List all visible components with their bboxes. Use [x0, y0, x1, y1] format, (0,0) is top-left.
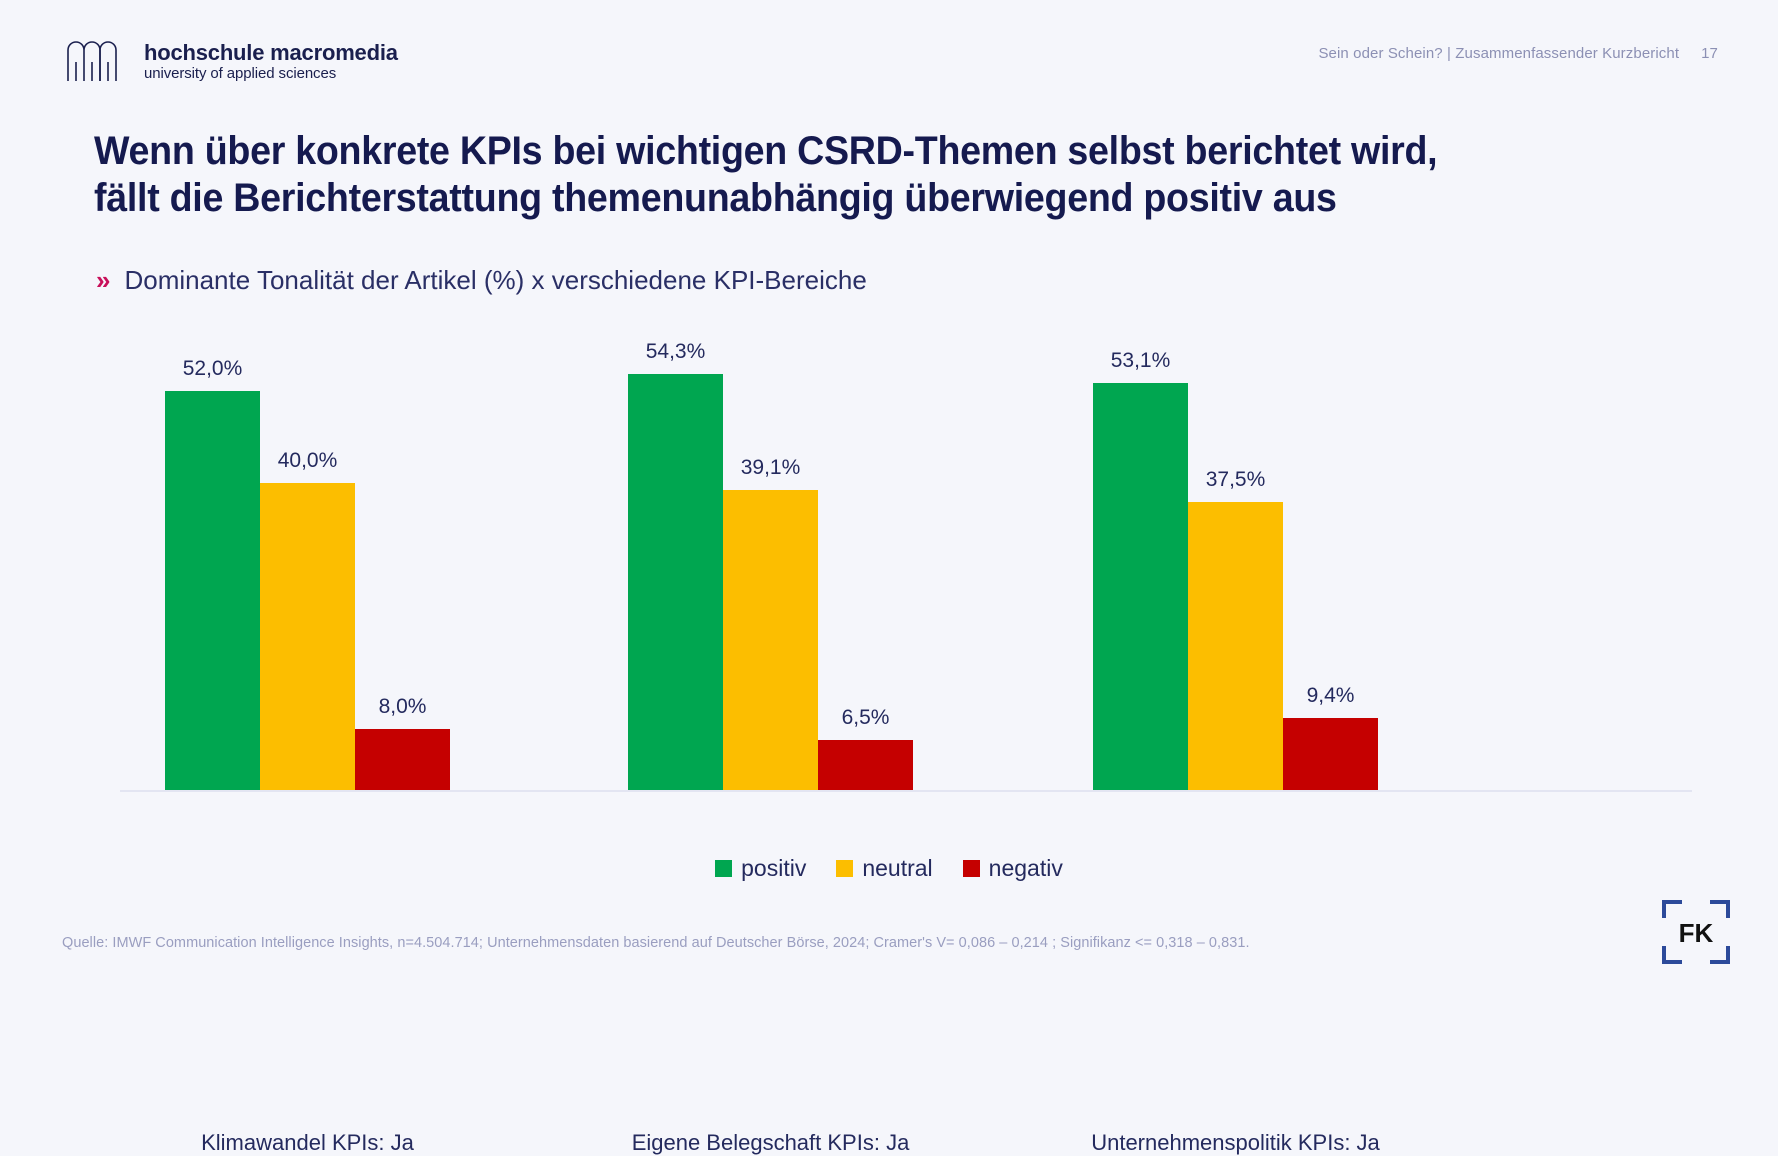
- bar-chart: 52,0%40,0%8,0%Klimawandel KPIs: Ja54,3%3…: [0, 330, 1778, 830]
- category-label: Klimawandel KPIs: Ja: [65, 1130, 550, 1156]
- bar-positiv[interactable]: [1093, 383, 1188, 790]
- bar-column[interactable]: 54,3%: [628, 330, 723, 790]
- legend-item-negativ[interactable]: negativ: [963, 855, 1063, 882]
- bar-column[interactable]: 6,5%: [818, 330, 913, 790]
- bar-group: 54,3%39,1%6,5%: [628, 330, 913, 790]
- chart-legend: positivneutralnegativ: [0, 855, 1778, 882]
- bar-column[interactable]: 53,1%: [1093, 330, 1188, 790]
- page-title: Wenn über konkrete KPIs bei wichtigen CS…: [94, 128, 1598, 222]
- bar-value-label: 37,5%: [1188, 468, 1283, 492]
- bar-column[interactable]: 52,0%: [165, 330, 260, 790]
- legend-swatch-icon: [715, 860, 732, 877]
- category-label: Unternehmenspolitik KPIs: Ja: [993, 1130, 1478, 1156]
- bar-group: 52,0%40,0%8,0%: [165, 330, 450, 790]
- legend-label: negativ: [989, 855, 1063, 882]
- bar-column[interactable]: 40,0%: [260, 330, 355, 790]
- legend-label: neutral: [862, 855, 932, 882]
- bar-column[interactable]: 9,4%: [1283, 330, 1378, 790]
- bar-negativ[interactable]: [1283, 718, 1378, 790]
- chart-plot-area: 52,0%40,0%8,0%Klimawandel KPIs: Ja54,3%3…: [120, 330, 1680, 790]
- bar-value-label: 40,0%: [260, 449, 355, 473]
- bar-negativ[interactable]: [818, 740, 913, 790]
- svg-text:FK: FK: [1679, 918, 1714, 948]
- bar-positiv[interactable]: [165, 391, 260, 790]
- bar-column[interactable]: 8,0%: [355, 330, 450, 790]
- legend-swatch-icon: [963, 860, 980, 877]
- header-meta: Sein oder Schein? | Zusammenfassender Ku…: [1318, 45, 1718, 62]
- category-label: Eigene Belegschaft KPIs: Ja: [528, 1130, 1013, 1156]
- bar-value-label: 52,0%: [165, 357, 260, 381]
- bar-value-label: 8,0%: [355, 695, 450, 719]
- bar-neutral[interactable]: [260, 483, 355, 790]
- page-number: 17: [1701, 45, 1718, 62]
- bar-value-label: 39,1%: [723, 456, 818, 480]
- chart-subtitle-text: Dominante Tonalität der Artikel (%) x ve…: [124, 265, 866, 296]
- legend-label: positiv: [741, 855, 806, 882]
- bar-value-label: 6,5%: [818, 706, 913, 730]
- logo-subtitle: university of applied sciences: [144, 65, 336, 82]
- bar-positiv[interactable]: [628, 374, 723, 790]
- legend-item-positiv[interactable]: positiv: [715, 855, 806, 882]
- bar-value-label: 54,3%: [628, 340, 723, 364]
- macromedia-m-icon: [66, 40, 128, 82]
- bar-negativ[interactable]: [355, 729, 450, 790]
- bar-group: 53,1%37,5%9,4%: [1093, 330, 1378, 790]
- bar-value-label: 9,4%: [1283, 684, 1378, 708]
- page-title-line1: Wenn über konkrete KPIs bei wichtigen CS…: [94, 129, 1437, 173]
- fk-logo: FK: [1660, 898, 1732, 966]
- source-note: Quelle: IMWF Communication Intelligence …: [62, 935, 1250, 951]
- chevron-right-icon: »: [96, 265, 110, 296]
- brand-logo: hochschule macromedia university of appl…: [66, 40, 398, 82]
- page-header: hochschule macromedia university of appl…: [0, 0, 1778, 100]
- bar-neutral[interactable]: [1188, 502, 1283, 790]
- chart-subtitle: » Dominante Tonalität der Artikel (%) x …: [96, 265, 867, 296]
- page-title-line2: fällt die Berichterstattung themenunabhä…: [94, 175, 1598, 222]
- bar-column[interactable]: 37,5%: [1188, 330, 1283, 790]
- breadcrumb: Sein oder Schein? | Zusammenfassender Ku…: [1318, 45, 1679, 62]
- bar-column[interactable]: 39,1%: [723, 330, 818, 790]
- legend-swatch-icon: [836, 860, 853, 877]
- bar-neutral[interactable]: [723, 490, 818, 790]
- logo-title: hochschule macromedia: [144, 40, 398, 65]
- bar-value-label: 53,1%: [1093, 349, 1188, 373]
- legend-item-neutral[interactable]: neutral: [836, 855, 932, 882]
